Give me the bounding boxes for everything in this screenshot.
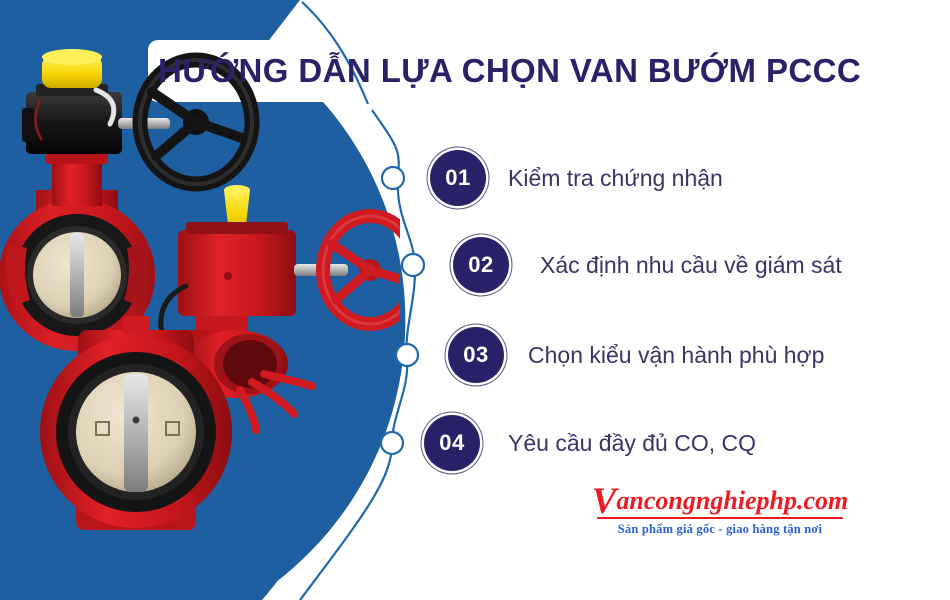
step-label-03: Chọn kiểu vận hành phù hợp [528,327,824,383]
step-label-02: Xác định nhu cầu về giám sát [540,237,842,293]
logo-name: ancongnghiephp.com [616,486,848,515]
timeline-node-02 [402,254,424,276]
logo-tagline: Sản phẩm giá gốc - giao hàng tận nơi [575,520,865,538]
infographic-canvas: HƯỚNG DẪN LỰA CHỌN VAN BƯỚM PCCC 01 Kiểm… [0,0,950,600]
step-badge-02: 02 [453,237,509,293]
brand-logo[interactable]: Vancongnghiephp.com Sản phẩm giá gốc - g… [575,486,865,542]
step-badge-04: 04 [424,415,480,471]
logo-wordmark: Vancongnghiephp.com [575,486,865,516]
logo-initial-v: V [592,481,617,522]
page-title: HƯỚNG DẪN LỰA CHỌN VAN BƯỚM PCCC [158,48,948,94]
step-label-04: Yêu cầu đầy đủ CO, CQ [508,415,756,471]
logo-underline [597,517,843,519]
step-badge-03: 03 [448,327,504,383]
step-badge-01: 01 [430,150,486,206]
step-label-01: Kiểm tra chứng nhận [508,150,723,206]
product-photo-group [0,30,400,590]
